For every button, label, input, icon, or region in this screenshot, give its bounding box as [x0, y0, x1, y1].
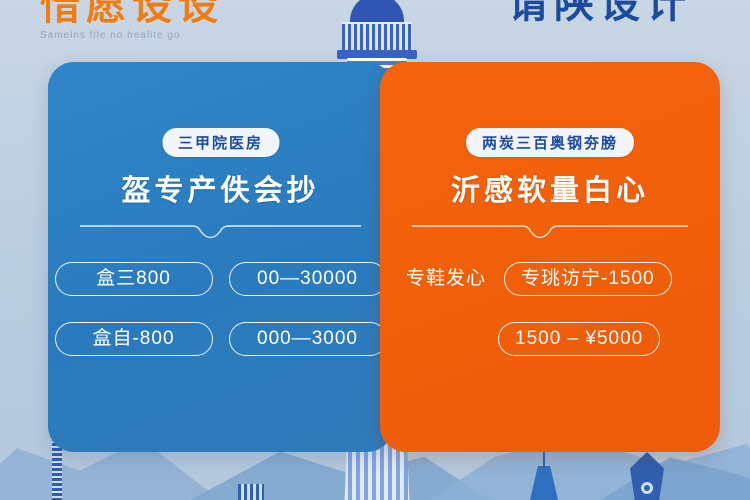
poster-header: 惜愿设设 Samelns file no healite go 请陕设计	[0, 0, 750, 52]
header-title-right: 请陕设计	[508, 0, 692, 26]
card-blue-pill-row: 盒自-800 000—3000	[48, 322, 393, 356]
card-orange-divider	[412, 222, 688, 244]
header-left-group: 惜愿设设 Samelns file no healite go	[40, 0, 224, 41]
card-orange-pill-row: 1500 – ¥5000	[380, 322, 720, 356]
card-orange[interactable]: 两炭三百奥钢夯膀 沂感软量白心 专鞋发心 专珧访宁-1500 1500 – ¥5…	[380, 62, 720, 452]
price-pill[interactable]: 000—3000	[229, 322, 387, 356]
header-title-left: 惜愿设设	[40, 0, 224, 28]
price-pill[interactable]: 专珧访宁-1500	[504, 262, 672, 296]
skyline-building-icon	[238, 484, 264, 500]
poster-canvas: 惜愿设设 Samelns file no healite go 请陕设计 三甲院…	[0, 0, 750, 500]
price-pill[interactable]: 00—30000	[229, 262, 387, 296]
price-label: 专鞋发心	[402, 263, 490, 295]
card-orange-badge: 两炭三百奥钢夯膀	[466, 128, 634, 157]
card-blue-badge: 三甲院医房	[162, 128, 279, 157]
card-blue-divider	[80, 222, 361, 244]
pen-building-window-icon	[641, 482, 653, 494]
price-pill[interactable]: 1500 – ¥5000	[498, 322, 660, 356]
card-blue-pill-grid: 盒三800 00—30000 盒自-800 000—3000	[48, 262, 393, 382]
card-blue-title: 盔专产佚会抄	[48, 167, 393, 209]
card-blue[interactable]: 三甲院医房 盔专产佚会抄 盒三800 00—30000 盒自-800 000—3…	[48, 62, 393, 452]
card-orange-pill-grid: 专鞋发心 专珧访宁-1500 1500 – ¥5000	[380, 262, 720, 382]
price-pill[interactable]: 盒三800	[55, 262, 213, 296]
card-blue-pill-row: 盒三800 00—30000	[48, 262, 393, 296]
price-pill[interactable]: 盒自-800	[55, 322, 213, 356]
card-orange-pill-row: 专鞋发心 专珧访宁-1500	[380, 262, 720, 296]
header-subtitle-left: Samelns file no healite go	[40, 30, 224, 41]
card-orange-title: 沂感软量白心	[380, 167, 720, 209]
